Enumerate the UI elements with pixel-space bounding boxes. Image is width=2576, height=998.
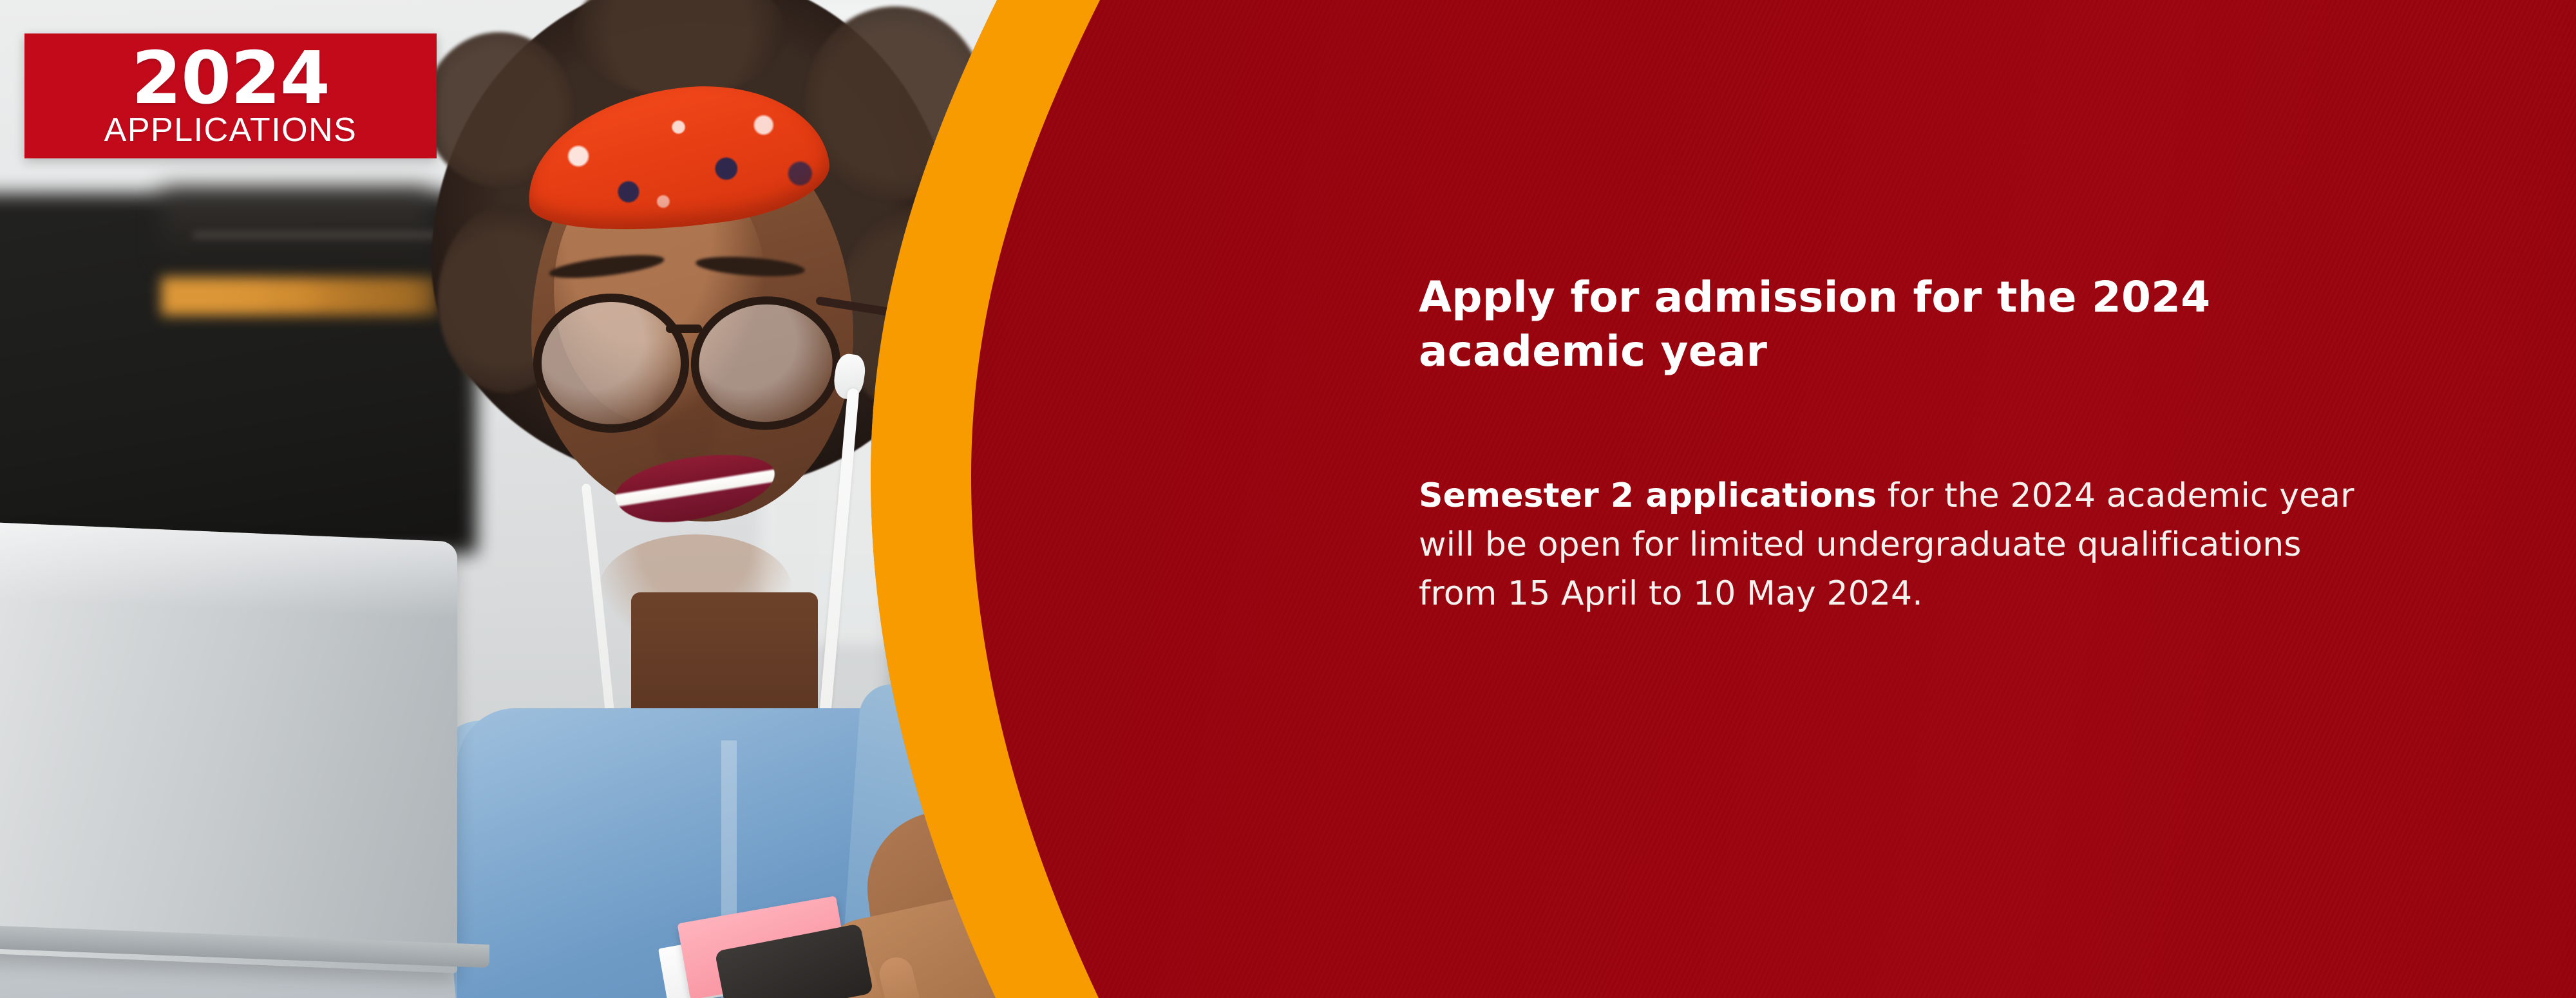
applications-badge: 2024 APPLICATIONS [24,33,437,158]
body-lead-text: Semester 2 applications [1419,476,1877,515]
page-title: Apply for admission for the 2024 academi… [1419,270,2385,379]
admissions-banner: 2024 APPLICATIONS Apply for admission fo… [0,0,2576,998]
badge-year: 2024 [131,48,330,109]
glasses-bridge [666,325,702,333]
banner-description: Semester 2 applications for the 2024 aca… [1419,379,2385,618]
banner-content: Apply for admission for the 2024 academi… [1419,270,2385,618]
badge-label: APPLICATIONS [104,113,357,147]
laptop-lid [0,522,457,973]
